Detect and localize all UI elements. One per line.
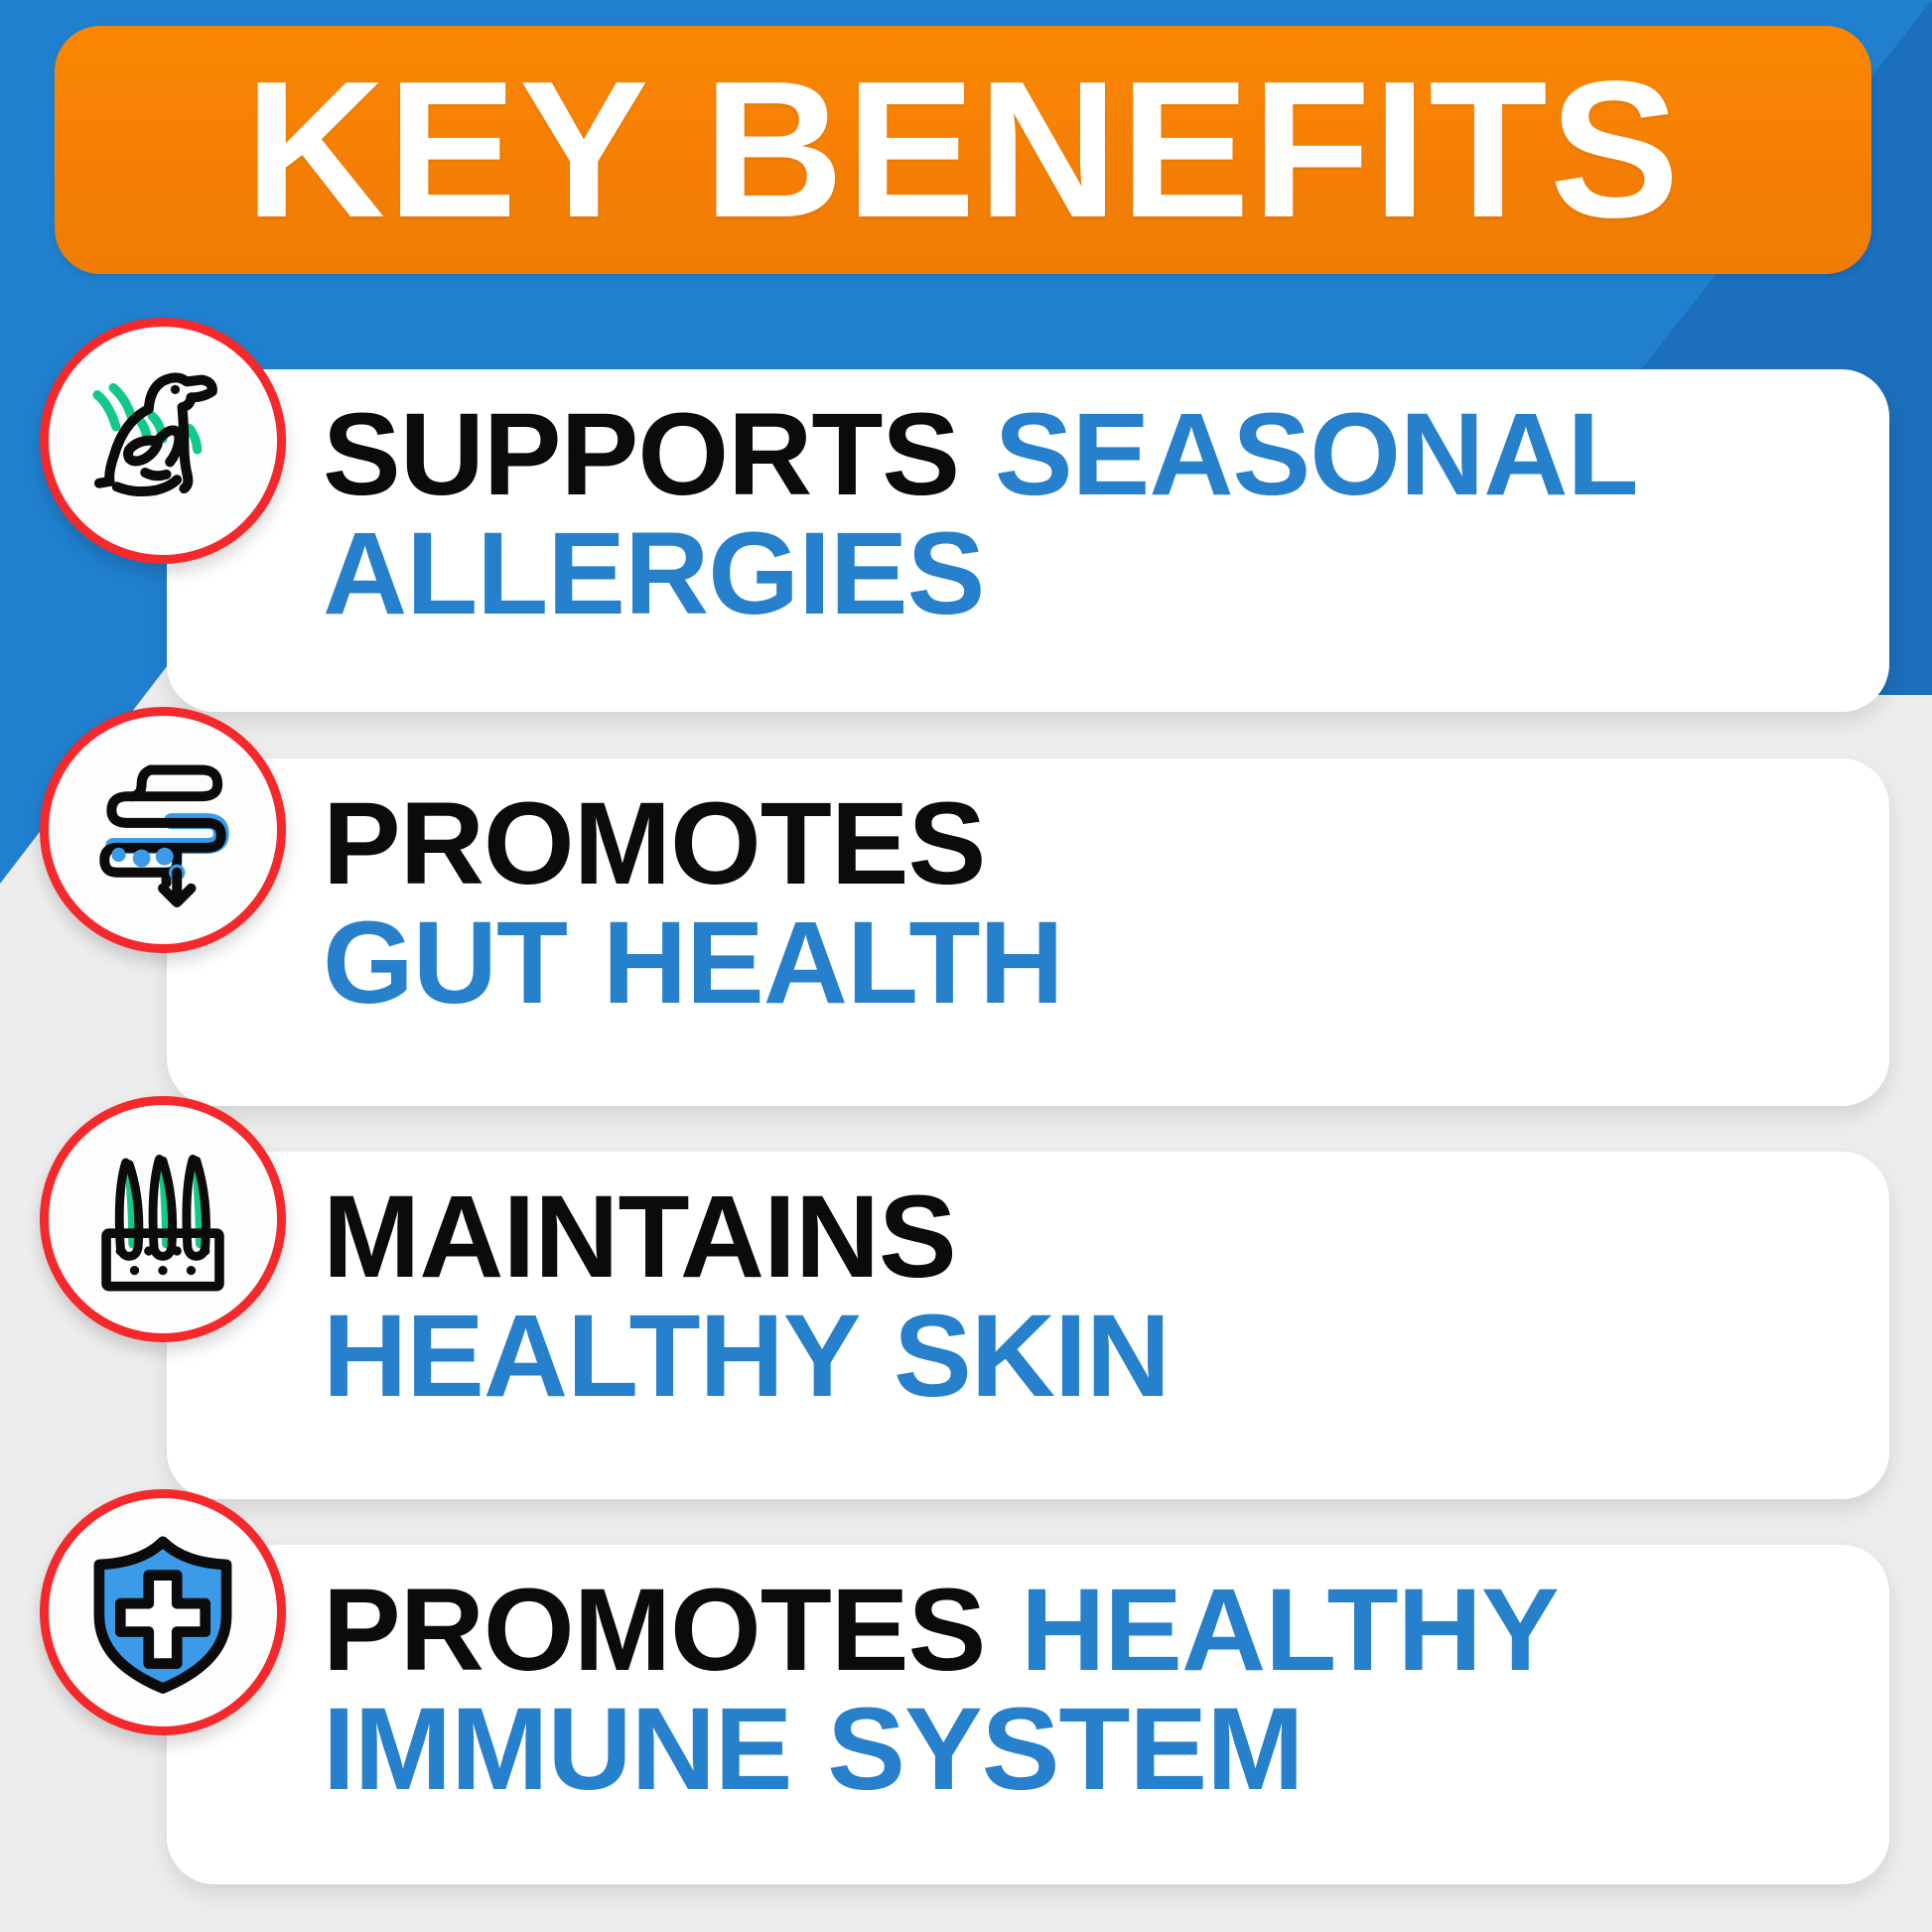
benefit-text-segment: HEALTHY <box>1021 1565 1558 1696</box>
page-title: KEY BENEFITS <box>244 53 1681 247</box>
benefit-text: MAINTAINS HEALTHY SKIN <box>323 1177 1892 1417</box>
benefit-icon-badge <box>40 1096 286 1342</box>
benefit-text-line: ALLERGIES <box>323 514 1892 633</box>
benefit-text-segment: SEASONAL <box>995 389 1638 520</box>
benefit-text-line: GUT HEALTH <box>323 903 1892 1023</box>
benefit-text-line: PROMOTES <box>323 784 1892 903</box>
benefit-icon-badge <box>40 318 286 564</box>
benefit-text-segment: HEALTHY SKIN <box>323 1291 1170 1422</box>
benefit-text-segment: PROMOTES <box>323 1565 1021 1696</box>
benefit-icon-badge <box>40 707 286 953</box>
intestine-icon <box>74 742 251 918</box>
shield-cross-icon <box>74 1524 251 1701</box>
benefit-text-line: IMMUNE SYSTEM <box>323 1690 1892 1809</box>
benefit-text-segment: ALLERGIES <box>323 508 984 639</box>
dog-scratching-icon <box>74 352 251 529</box>
benefit-text-segment: PROMOTES <box>323 778 985 909</box>
benefit-text: SUPPORTS SEASONAL ALLERGIES <box>323 395 1892 634</box>
benefit-text-segment: IMMUNE SYSTEM <box>323 1684 1304 1815</box>
benefit-text-line: MAINTAINS <box>323 1177 1892 1297</box>
benefit-text-line: HEALTHY SKIN <box>323 1297 1892 1416</box>
hair-follicle-skin-icon <box>74 1131 251 1308</box>
benefit-text-segment: GUT HEALTH <box>323 897 1063 1029</box>
benefit-icon-badge <box>40 1489 286 1735</box>
benefit-text-segment: MAINTAINS <box>323 1172 956 1303</box>
benefit-text: PROMOTES GUT HEALTH <box>323 784 1892 1024</box>
benefit-text-segment: SUPPORTS <box>323 389 995 520</box>
header-banner: KEY BENEFITS <box>55 26 1871 274</box>
benefit-text: PROMOTES HEALTHY IMMUNE SYSTEM <box>323 1571 1892 1810</box>
benefit-text-line: PROMOTES HEALTHY <box>323 1571 1892 1690</box>
benefit-text-line: SUPPORTS SEASONAL <box>323 395 1892 514</box>
